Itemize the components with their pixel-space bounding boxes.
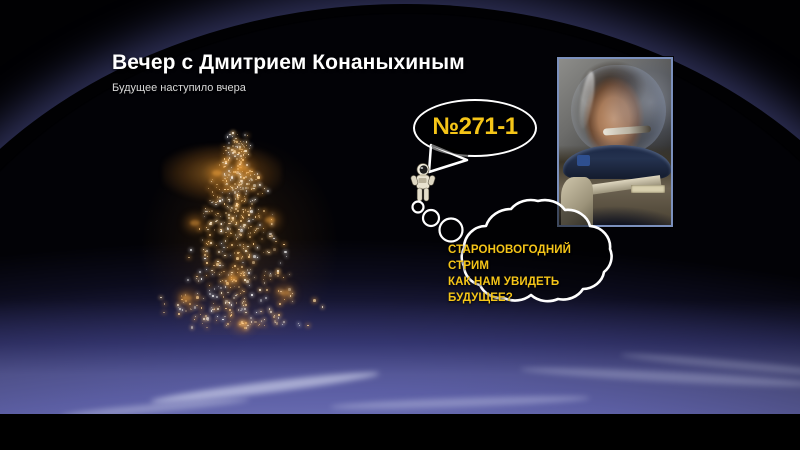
video-frame: Вечер с Дмитрием Конаныхиным Будущее нас…: [0, 0, 800, 450]
page-title: Вечер с Дмитрием Конаныхиным: [112, 50, 532, 76]
show-subtitle: Будущее наступило вчера: [112, 81, 532, 95]
thought-line: КАК НАМ УВИДЕТЬ: [448, 274, 620, 290]
visor-glint: [577, 70, 598, 129]
thought-line: БУДУЩЕЕ?: [448, 290, 620, 306]
title-block: Вечер с Дмитрием Конаныхиным Будущее нас…: [112, 50, 532, 95]
thought-line: СТРИМ: [448, 258, 620, 274]
episode-speech-bubble: №271-1: [413, 99, 537, 157]
thought-line: СТАРОНОВОГОДНИЙ: [448, 242, 620, 258]
helmet-neck-ring: [563, 145, 671, 179]
thought-cloud-text: СТАРОНОВОГОДНИЙ СТРИМ КАК НАМ УВИДЕТЬ БУ…: [448, 242, 620, 306]
helmet-microphone: [603, 125, 651, 135]
suit-patch-icon: [577, 155, 590, 166]
episode-number: №271-1: [413, 99, 537, 157]
suit-nametag: [631, 185, 665, 193]
thought-cloud-bubble: СТАРОНОВОГОДНИЙ СТРИМ КАК НАМ УВИДЕТЬ БУ…: [404, 190, 636, 350]
helmet-visor: [571, 65, 666, 153]
